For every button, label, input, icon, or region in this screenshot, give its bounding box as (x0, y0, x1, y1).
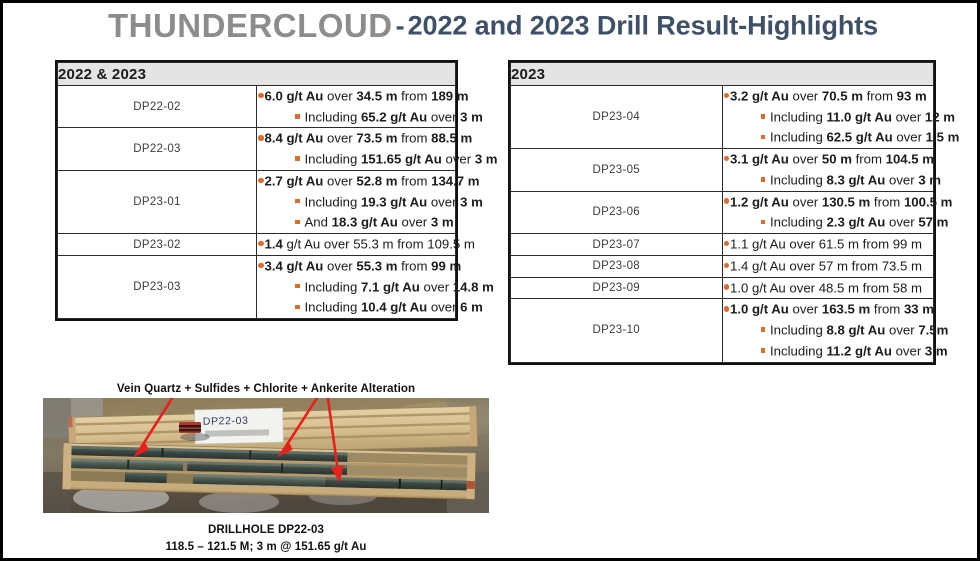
drill-result-cell: 1.0 g/t Au over 48.5 m from 58 m (722, 277, 934, 299)
result-line-sub: Including 7.1 g/t Au over 14.8 m (257, 277, 455, 298)
drillhole-id-cell: DP23-01 (58, 170, 257, 233)
result-line-sub: Including 8.8 g/t Au over 7.5m (723, 320, 934, 341)
result-text-segment: 2.7 g/t Au (265, 173, 328, 188)
drillhole-id-cell: DP23-03 (58, 255, 257, 318)
drill-result-cell: 1.0 g/t Au over 163.5 m from 33 mIncludi… (722, 299, 934, 362)
drill-result-cell: 1.2 g/t Au over 130.5 m from 100.5 mIncl… (722, 191, 934, 233)
result-text-segment: 3 m (460, 109, 483, 124)
bullet-dot-icon (258, 178, 264, 184)
bullet-square-icon (295, 284, 300, 289)
core-photo-block: Vein Quartz + Sulfides + Chlorite + Anke… (43, 383, 489, 555)
result-text-segment: 88.5 m (431, 131, 472, 146)
result-text-segment: over (793, 194, 822, 209)
result-text-segment: 3.4 g/t Au (265, 258, 328, 273)
result-line-sub: Including 2.3 g/t Au over 57 m (723, 212, 934, 233)
result-line-sub: Including 62.5 g/t Au over 1.5 m (723, 127, 934, 148)
result-text-segment: 1.0 g/t Au over 48.5 m from 58 m (730, 280, 922, 295)
table-row[interactable]: DP23-043.2 g/t Au over 70.5 m from 93 mI… (511, 86, 934, 149)
result-text-segment: Including (770, 215, 826, 230)
result-text-segment: 73.5 m (356, 131, 401, 146)
result-text-segment: 19.3 g/t Au (361, 194, 431, 209)
result-text-segment: 189 m (431, 88, 468, 103)
table-header-row: 2022 & 2023 (58, 63, 456, 86)
result-text-segment: Including (305, 300, 361, 315)
result-text-segment: 3.2 g/t Au (730, 88, 793, 103)
result-text-segment: 52.8 m (356, 173, 401, 188)
result-text-segment: 57 m (918, 215, 948, 230)
result-text-segment: 3.1 g/t Au (730, 151, 793, 166)
result-text-segment: And (305, 215, 332, 230)
result-text-segment: 99 m (431, 258, 461, 273)
bullet-dot-icon (258, 263, 264, 269)
result-text-segment: over (431, 300, 460, 315)
drill-core-photo: DP22-03 (43, 398, 489, 513)
bullet-dot-icon (724, 263, 730, 269)
result-text-segment: 50 m (822, 151, 856, 166)
result-text-segment: 1.4 (265, 236, 283, 251)
bullet-square-icon (295, 305, 300, 310)
table-right-grid: 2023 DP23-043.2 g/t Au over 70.5 m from … (510, 62, 934, 363)
result-line-primary: 1.0 g/t Au over 163.5 m from 33 m (723, 299, 934, 320)
result-text-segment: over (889, 322, 918, 337)
table-row[interactable]: DP23-071.1 g/t Au over 61.5 m from 99 m (511, 234, 934, 256)
drillhole-id-cell: DP23-06 (511, 191, 723, 233)
result-line-sub: Including 19.3 g/t Au over 3 m (257, 192, 455, 213)
table-row[interactable]: DP23-101.0 g/t Au over 163.5 m from 33 m… (511, 299, 934, 362)
result-text-segment: from (401, 131, 431, 146)
result-text-segment: 3 m (925, 343, 948, 358)
result-text-segment: 1.1 g/t Au over 61.5 m from 99 m (730, 236, 922, 251)
bullet-square-icon (761, 114, 766, 119)
title-brand: THUNDERCLOUD (108, 7, 393, 44)
drill-results-table-right: 2023 DP23-043.2 g/t Au over 70.5 m from … (508, 60, 936, 365)
result-text-segment: 104.5 m (886, 151, 934, 166)
result-line-sub: Including 11.2 g/t Au over 3 m (723, 341, 934, 362)
result-text-segment: 1.4 g/t Au over 57 m from 73.5 m (730, 258, 922, 273)
result-text-segment: 55.3 m (356, 258, 401, 273)
result-line-primary: 1.4 g/t Au over 57 m from 73.5 m (723, 256, 934, 277)
table-row[interactable]: DP23-091.0 g/t Au over 48.5 m from 58 m (511, 277, 934, 299)
result-line-primary: 2.7 g/t Au over 52.8 m from 134.7 m (257, 171, 455, 192)
result-text-segment: 70.5 m (822, 88, 867, 103)
result-text-segment: 8.8 g/t Au (826, 322, 889, 337)
result-text-segment: 18.3 g/t Au (332, 215, 402, 230)
result-text-segment: over (327, 88, 356, 103)
table-left-head: 2022 & 2023 (58, 63, 456, 86)
table-row[interactable]: DP23-033.4 g/t Au over 55.3 m from 99 mI… (58, 255, 456, 318)
drill-result-cell: 3.4 g/t Au over 55.3 m from 99 mIncludin… (257, 255, 456, 318)
bullet-square-icon (295, 156, 300, 161)
result-text-segment: over (889, 215, 918, 230)
result-text-segment: over (896, 109, 925, 124)
result-text-segment: over (423, 279, 452, 294)
result-line-primary: 3.2 g/t Au over 70.5 m from 93 m (723, 86, 934, 107)
result-text-segment: g/t Au over 55.3 m from 109.5 m (283, 236, 475, 251)
result-text-segment: over (327, 131, 356, 146)
bullet-square-icon (761, 327, 766, 332)
result-text-segment: Including (305, 194, 361, 209)
table-header-row: 2023 (511, 63, 934, 86)
table-row[interactable]: DP23-012.7 g/t Au over 52.8 m from 134.7… (58, 170, 456, 233)
result-text-segment: 11.0 g/t Au (826, 109, 895, 124)
result-text-segment: 3 m (431, 215, 454, 230)
bullet-dot-icon (724, 284, 730, 290)
result-line-primary: 1.0 g/t Au over 48.5 m from 58 m (723, 278, 934, 299)
drill-result-cell: 6.0 g/t Au over 34.5 m from 189 mIncludi… (257, 86, 456, 128)
bullet-dot-icon (724, 306, 730, 312)
slide-canvas: THUNDERCLOUD-2022 and 2023 Drill Result-… (0, 0, 980, 561)
result-line-sub: Including 10.4 g/t Au over 6 m (257, 297, 455, 318)
drill-result-cell: 3.2 g/t Au over 70.5 m from 93 mIncludin… (722, 86, 934, 149)
result-text-segment: 93 m (897, 88, 927, 103)
drill-result-cell: 3.1 g/t Au over 50 m from 104.5 mIncludi… (722, 149, 934, 191)
result-text-segment: from (401, 88, 431, 103)
result-text-segment: Including (305, 151, 361, 166)
result-text-segment: from (874, 194, 904, 209)
result-text-segment: from (856, 151, 886, 166)
result-text-segment: Including (770, 109, 826, 124)
result-text-segment: 100.5 m (904, 194, 952, 209)
bullet-dot-icon (724, 198, 730, 204)
result-text-segment: over (793, 302, 822, 317)
result-text-segment: 130.5 m (822, 194, 874, 209)
result-line-primary: 1.2 g/t Au over 130.5 m from 100.5 m (723, 192, 934, 213)
result-text-segment: over (402, 215, 431, 230)
table-row[interactable]: DP23-053.1 g/t Au over 50 m from 104.5 m… (511, 149, 934, 191)
drill-result-cell: 8.4 g/t Au over 73.5 m from 88.5 mInclud… (257, 128, 456, 170)
annotation-arrows-overlay (43, 398, 489, 513)
bullet-dot-icon (258, 135, 264, 141)
result-text-segment: Including (305, 279, 361, 294)
table-row[interactable]: DP23-021.4 g/t Au over 55.3 m from 109.5… (58, 234, 456, 256)
bullet-square-icon (295, 114, 300, 119)
result-text-segment: over (327, 173, 356, 188)
table-row[interactable]: DP22-026.0 g/t Au over 34.5 m from 189 m… (58, 86, 456, 128)
result-line-sub: Including 8.3 g/t Au over 3 m (723, 170, 934, 191)
drillhole-id-cell: DP22-03 (58, 128, 257, 170)
result-text-segment: over (793, 88, 822, 103)
drillhole-id-cell: DP23-08 (511, 255, 723, 277)
table-row[interactable]: DP22-038.4 g/t Au over 73.5 m from 88.5 … (58, 128, 456, 170)
bullet-square-icon (761, 220, 766, 225)
table-right-body: DP23-043.2 g/t Au over 70.5 m from 93 mI… (511, 86, 934, 363)
bullet-dot-icon (724, 156, 730, 162)
photo-caption-drillhole: DRILLHOLE DP22-03 (43, 522, 489, 539)
result-text-segment: 3 m (475, 151, 498, 166)
result-text-segment: 3 m (460, 194, 483, 209)
bullet-dot-icon (258, 241, 264, 247)
result-text-segment: 7.5m (918, 322, 948, 337)
result-line-sub: Including 151.65 g/t Au over 3 m (257, 149, 455, 170)
result-text-segment: 11.2 g/t Au (826, 343, 895, 358)
result-line-primary: 8.4 g/t Au over 73.5 m from 88.5 m (257, 128, 455, 149)
drillhole-id-cell: DP22-02 (58, 86, 257, 128)
table-row[interactable]: DP23-081.4 g/t Au over 57 m from 73.5 m (511, 255, 934, 277)
result-text-segment: from (874, 302, 904, 317)
bullet-dot-icon (724, 241, 730, 247)
result-line-primary: 1.4 g/t Au over 55.3 m from 109.5 m (257, 234, 455, 255)
photo-caption-bottom: DRILLHOLE DP22-03 118.5 – 121.5 M; 3 m @… (43, 522, 489, 555)
result-text-segment: 8.3 g/t Au (826, 172, 889, 187)
result-text-segment: from (401, 258, 431, 273)
table-right-head: 2023 (511, 63, 934, 86)
bullet-square-icon (295, 199, 300, 204)
drill-result-cell: 1.1 g/t Au over 61.5 m from 99 m (722, 234, 934, 256)
table-left-grid: 2022 & 2023 DP22-026.0 g/t Au over 34.5 … (57, 62, 456, 319)
result-text-segment: 34.5 m (356, 88, 401, 103)
result-text-segment: 3 m (918, 172, 941, 187)
result-line-sub: And 18.3 g/t Au over 3 m (257, 212, 455, 233)
result-text-segment: 14.8 m (453, 279, 494, 294)
drillhole-id-cell: DP23-04 (511, 86, 723, 149)
title-dash: - (393, 11, 408, 41)
result-text-segment: 62.5 g/t Au (826, 130, 896, 145)
result-text-segment: over (793, 151, 822, 166)
photo-caption-top: Vein Quartz + Sulfides + Chlorite + Anke… (43, 383, 489, 395)
result-text-segment: 163.5 m (822, 302, 874, 317)
result-line-sub: Including 11.0 g/t Au over 12 m (723, 107, 934, 128)
drill-results-table-left: 2022 & 2023 DP22-026.0 g/t Au over 34.5 … (55, 60, 458, 321)
result-line-primary: 1.1 g/t Au over 61.5 m from 99 m (723, 234, 934, 255)
result-text-segment: over (889, 172, 918, 187)
drill-result-cell: 2.7 g/t Au over 52.8 m from 134.7 mInclu… (257, 170, 456, 233)
drillhole-id-cell: DP23-07 (511, 234, 723, 256)
result-text-segment: 6.0 g/t Au (265, 88, 328, 103)
drillhole-id-cell: DP23-10 (511, 299, 723, 362)
result-text-segment: 33 m (904, 302, 934, 317)
result-text-segment: 1.0 g/t Au (730, 302, 793, 317)
result-text-segment: Including (305, 109, 361, 124)
drillhole-id-cell: DP23-02 (58, 234, 257, 256)
drill-result-cell: 1.4 g/t Au over 55.3 m from 109.5 m (257, 234, 456, 256)
title-subject: 2022 and 2023 Drill Result-Highlights (408, 11, 878, 41)
result-text-segment: 6 m (460, 300, 483, 315)
result-line-primary: 6.0 g/t Au over 34.5 m from 189 m (257, 86, 455, 107)
result-text-segment: from (867, 88, 897, 103)
result-text-segment: 12 m (925, 109, 955, 124)
result-text-segment: over (327, 258, 356, 273)
table-right-header-label: 2023 (511, 63, 934, 86)
result-line-primary: 3.1 g/t Au over 50 m from 104.5 m (723, 149, 934, 170)
table-left-header-label: 2022 & 2023 (58, 63, 456, 86)
result-text-segment: 134.7 m (431, 173, 479, 188)
table-left-body: DP22-026.0 g/t Au over 34.5 m from 189 m… (58, 86, 456, 319)
result-text-segment: Including (770, 130, 826, 145)
bullet-square-icon (761, 135, 766, 140)
bullet-square-icon (761, 348, 766, 353)
bullet-dot-icon (724, 93, 730, 99)
result-text-segment: Including (770, 343, 826, 358)
result-text-segment: over (445, 151, 474, 166)
bullet-dot-icon (258, 93, 264, 99)
bullet-square-icon (761, 177, 766, 182)
result-text-segment: Including (770, 172, 826, 187)
result-text-segment: Including (770, 322, 826, 337)
result-text-segment: 7.1 g/t Au (361, 279, 424, 294)
result-text-segment: 8.4 g/t Au (265, 131, 328, 146)
bullet-square-icon (295, 220, 300, 225)
result-text-segment: 1.2 g/t Au (730, 194, 793, 209)
result-text-segment: 2.3 g/t Au (826, 215, 889, 230)
result-text-segment: over (431, 194, 460, 209)
result-text-segment: 1.5 m (926, 130, 960, 145)
result-text-segment: 65.2 g/t Au (361, 109, 431, 124)
result-text-segment: from (401, 173, 431, 188)
drillhole-id-cell: DP23-09 (511, 277, 723, 299)
drill-result-cell: 1.4 g/t Au over 57 m from 73.5 m (722, 255, 934, 277)
result-text-segment: 151.65 g/t Au (361, 151, 446, 166)
result-text-segment: over (896, 343, 925, 358)
result-line-sub: Including 65.2 g/t Au over 3 m (257, 107, 455, 128)
result-text-segment: 10.4 g/t Au (361, 300, 431, 315)
result-text-segment: over (896, 130, 925, 145)
result-text-segment: over (431, 109, 460, 124)
table-row[interactable]: DP23-061.2 g/t Au over 130.5 m from 100.… (511, 191, 934, 233)
drillhole-id-cell: DP23-05 (511, 149, 723, 191)
page-title: THUNDERCLOUD-2022 and 2023 Drill Result-… (3, 7, 980, 49)
photo-caption-interval: 118.5 – 121.5 M; 3 m @ 151.65 g/t Au (43, 539, 489, 556)
result-line-primary: 3.4 g/t Au over 55.3 m from 99 m (257, 256, 455, 277)
